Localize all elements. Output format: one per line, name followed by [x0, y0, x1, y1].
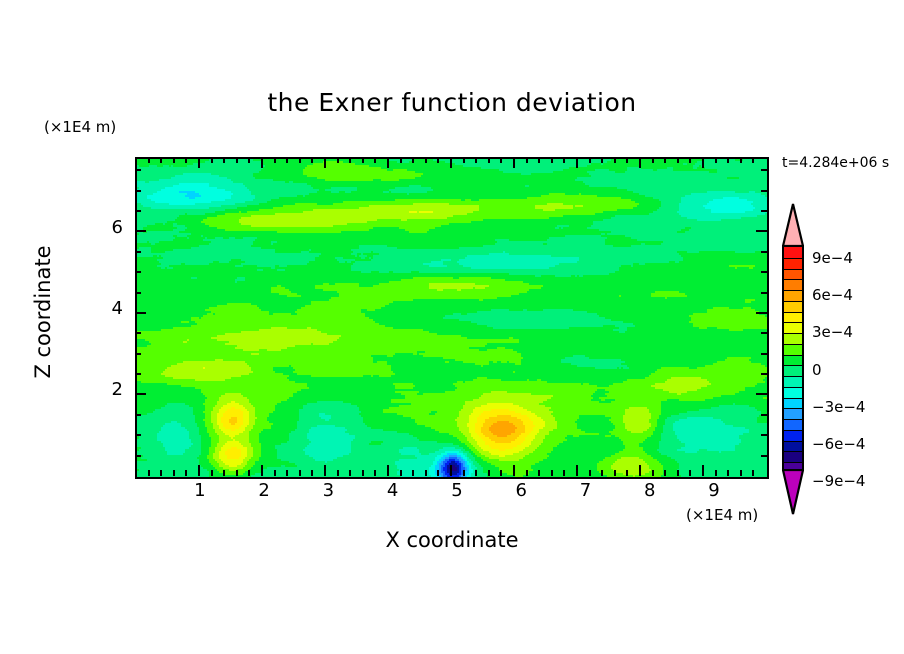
- y-axis-unit-label: (×1E4 m): [44, 118, 116, 136]
- x-minor-tick: [223, 470, 225, 476]
- colorbar-segment: [784, 430, 802, 441]
- x-major-tick: [324, 465, 326, 476]
- x-major-tick-top: [576, 157, 578, 168]
- figure-root: the Exner function deviation (×1E4 m) t=…: [0, 0, 904, 654]
- x-major-tick: [513, 465, 515, 476]
- colorbar-segment: [784, 344, 802, 355]
- x-major-tick: [639, 465, 641, 476]
- x-minor-tick: [526, 470, 528, 476]
- x-major-tick-top: [198, 157, 200, 168]
- x-minor-tick: [740, 470, 742, 476]
- y-tick-label: 4: [95, 298, 123, 319]
- x-major-tick-top: [387, 157, 389, 168]
- contour-plot-area: [135, 157, 769, 479]
- colorbar-under-arrow-outline: [782, 469, 804, 515]
- colorbar-segment-divider: [784, 279, 802, 280]
- colorbar-segment: [784, 301, 802, 312]
- x-minor-tick: [160, 470, 162, 476]
- x-tick-label: 4: [378, 480, 408, 501]
- colorbar-segment-divider: [784, 451, 802, 452]
- x-minor-tick-top: [475, 157, 477, 163]
- x-minor-tick: [337, 470, 339, 476]
- x-minor-tick: [626, 470, 628, 476]
- colorbar-segment-divider: [784, 430, 802, 431]
- y-minor-tick: [135, 251, 141, 253]
- x-minor-tick-top: [362, 157, 364, 163]
- colorbar-segment-divider: [784, 365, 802, 366]
- x-minor-tick-top: [299, 157, 301, 163]
- colorbar-segment: [784, 247, 802, 258]
- x-minor-tick: [148, 470, 150, 476]
- x-minor-tick-top: [652, 157, 654, 163]
- y-minor-tick-right: [761, 271, 767, 273]
- y-minor-tick-right: [761, 414, 767, 416]
- x-minor-tick-top: [148, 157, 150, 163]
- x-minor-tick-top: [740, 157, 742, 163]
- colorbar-segment: [784, 398, 802, 409]
- x-major-tick: [702, 465, 704, 476]
- colorbar-segment: [784, 290, 802, 301]
- x-minor-tick: [412, 470, 414, 476]
- colorbar-tick-label: 9e−4: [812, 249, 853, 267]
- colorbar-segment-divider: [784, 462, 802, 463]
- x-minor-tick-top: [160, 157, 162, 163]
- x-minor-tick: [475, 470, 477, 476]
- colorbar-segment-divider: [784, 301, 802, 302]
- x-minor-tick: [652, 470, 654, 476]
- y-tick-label: 6: [95, 217, 123, 238]
- x-minor-tick-top: [727, 157, 729, 163]
- x-minor-tick: [589, 470, 591, 476]
- x-minor-tick-top: [488, 157, 490, 163]
- y-minor-tick-right: [761, 251, 767, 253]
- colorbar-segment: [784, 376, 802, 387]
- x-minor-tick: [286, 470, 288, 476]
- y-minor-tick-right: [761, 169, 767, 171]
- x-tick-label: 7: [570, 480, 600, 501]
- colorbar-tick-label: −3e−4: [812, 398, 865, 416]
- x-minor-tick-top: [400, 157, 402, 163]
- y-minor-tick: [135, 292, 141, 294]
- x-minor-tick-top: [626, 157, 628, 163]
- x-minor-tick-top: [185, 157, 187, 163]
- colorbar-tick-label: 0: [812, 361, 822, 379]
- y-minor-tick: [135, 373, 141, 375]
- y-axis-title: Z coordinate: [31, 207, 55, 417]
- x-minor-tick: [173, 470, 175, 476]
- y-major-tick: [135, 230, 146, 232]
- x-minor-tick-top: [349, 157, 351, 163]
- y-minor-tick-right: [761, 455, 767, 457]
- x-axis-title: X coordinate: [0, 528, 904, 552]
- x-minor-tick-top: [563, 157, 565, 163]
- x-minor-tick: [362, 470, 364, 476]
- colorbar-segment: [784, 387, 802, 398]
- x-minor-tick: [727, 470, 729, 476]
- colorbar-segment: [784, 408, 802, 419]
- x-minor-tick-top: [437, 157, 439, 163]
- x-minor-tick: [601, 470, 603, 476]
- x-minor-tick-top: [425, 157, 427, 163]
- colorbar-segment: [784, 365, 802, 376]
- y-minor-tick: [135, 271, 141, 273]
- contour-field: [137, 159, 767, 477]
- x-minor-tick-top: [601, 157, 603, 163]
- x-minor-tick: [500, 470, 502, 476]
- x-tick-label: 3: [313, 480, 343, 501]
- timestamp-annotation: t=4.284e+06 s: [782, 155, 889, 171]
- x-minor-tick: [425, 470, 427, 476]
- x-minor-tick-top: [551, 157, 553, 163]
- x-minor-tick: [664, 470, 666, 476]
- colorbar-segment-divider: [784, 269, 802, 270]
- x-minor-tick-top: [664, 157, 666, 163]
- x-tick-label: 1: [185, 480, 215, 501]
- x-minor-tick-top: [412, 157, 414, 163]
- colorbar-segment: [784, 322, 802, 333]
- y-minor-tick-right: [761, 210, 767, 212]
- x-minor-tick: [374, 470, 376, 476]
- colorbar-over-arrow-outline: [782, 203, 804, 247]
- colorbar-gradient: [782, 245, 804, 471]
- colorbar-segment-divider: [784, 258, 802, 259]
- x-tick-label: 6: [506, 480, 536, 501]
- x-minor-tick: [752, 470, 754, 476]
- x-minor-tick-top: [677, 157, 679, 163]
- y-minor-tick-right: [761, 332, 767, 334]
- x-major-tick-top: [639, 157, 641, 168]
- x-major-tick: [261, 465, 263, 476]
- x-minor-tick-top: [173, 157, 175, 163]
- colorbar-segment-divider: [784, 441, 802, 442]
- colorbar-segment-divider: [784, 312, 802, 313]
- x-minor-tick: [299, 470, 301, 476]
- x-tick-label: 9: [699, 480, 729, 501]
- x-major-tick-top: [261, 157, 263, 168]
- y-minor-tick-right: [761, 373, 767, 375]
- colorbar-segment: [784, 333, 802, 344]
- y-minor-tick: [135, 353, 141, 355]
- colorbar-segment-divider: [784, 387, 802, 388]
- contour-canvas: [137, 159, 767, 477]
- colorbar-tick-label: −9e−4: [812, 472, 865, 490]
- x-minor-tick: [551, 470, 553, 476]
- page-title: the Exner function deviation: [0, 88, 904, 117]
- x-minor-tick-top: [589, 157, 591, 163]
- x-minor-tick: [715, 470, 717, 476]
- x-major-tick: [198, 465, 200, 476]
- x-minor-tick: [563, 470, 565, 476]
- y-major-tick-right: [756, 312, 767, 314]
- x-minor-tick-top: [752, 157, 754, 163]
- y-minor-tick: [135, 434, 141, 436]
- colorbar-segment: [784, 441, 802, 452]
- colorbar-segment: [784, 279, 802, 290]
- colorbar-segment-divider: [784, 398, 802, 399]
- x-major-tick-top: [513, 157, 515, 168]
- x-minor-tick: [236, 470, 238, 476]
- x-minor-tick: [211, 470, 213, 476]
- x-minor-tick: [488, 470, 490, 476]
- colorbar-segment: [784, 355, 802, 366]
- colorbar-tick-label: 3e−4: [812, 323, 853, 341]
- x-minor-tick: [689, 470, 691, 476]
- colorbar-segment: [784, 258, 802, 269]
- x-minor-tick-top: [715, 157, 717, 163]
- x-minor-tick: [437, 470, 439, 476]
- x-minor-tick: [614, 470, 616, 476]
- x-minor-tick: [248, 470, 250, 476]
- y-major-tick: [135, 312, 146, 314]
- colorbar-segment: [784, 419, 802, 430]
- x-minor-tick-top: [526, 157, 528, 163]
- y-tick-label: 2: [95, 379, 123, 400]
- colorbar-segment: [784, 269, 802, 280]
- x-minor-tick: [677, 470, 679, 476]
- y-major-tick-right: [756, 393, 767, 395]
- y-minor-tick: [135, 455, 141, 457]
- x-minor-tick-top: [223, 157, 225, 163]
- colorbar-segment: [784, 312, 802, 323]
- colorbar-segment-divider: [784, 376, 802, 377]
- x-minor-tick: [463, 470, 465, 476]
- x-minor-tick: [311, 470, 313, 476]
- x-major-tick-top: [324, 157, 326, 168]
- x-minor-tick-top: [248, 157, 250, 163]
- colorbar-segment-divider: [784, 322, 802, 323]
- x-tick-label: 2: [249, 480, 279, 501]
- x-minor-tick-top: [311, 157, 313, 163]
- y-minor-tick: [135, 190, 141, 192]
- y-minor-tick: [135, 210, 141, 212]
- x-tick-label: 5: [442, 480, 472, 501]
- x-tick-label: 8: [635, 480, 665, 501]
- x-minor-tick-top: [236, 157, 238, 163]
- x-minor-tick: [274, 470, 276, 476]
- colorbar-segment-divider: [784, 419, 802, 420]
- y-minor-tick: [135, 169, 141, 171]
- y-major-tick: [135, 393, 146, 395]
- colorbar-segment-divider: [784, 355, 802, 356]
- x-major-tick: [387, 465, 389, 476]
- x-major-tick: [576, 465, 578, 476]
- y-major-tick-right: [756, 230, 767, 232]
- x-minor-tick-top: [689, 157, 691, 163]
- colorbar-tick-label: 6e−4: [812, 286, 853, 304]
- x-major-tick-top: [450, 157, 452, 168]
- x-minor-tick: [349, 470, 351, 476]
- x-minor-tick: [538, 470, 540, 476]
- colorbar-segment-divider: [784, 344, 802, 345]
- x-minor-tick: [185, 470, 187, 476]
- x-minor-tick-top: [274, 157, 276, 163]
- y-minor-tick: [135, 414, 141, 416]
- y-minor-tick: [135, 332, 141, 334]
- x-minor-tick-top: [286, 157, 288, 163]
- y-minor-tick-right: [761, 434, 767, 436]
- x-axis-unit-label: (×1E4 m): [686, 506, 758, 524]
- x-minor-tick-top: [500, 157, 502, 163]
- x-minor-tick-top: [374, 157, 376, 163]
- x-major-tick-top: [702, 157, 704, 168]
- colorbar: [780, 203, 806, 513]
- colorbar-segment-divider: [784, 408, 802, 409]
- x-minor-tick-top: [538, 157, 540, 163]
- x-minor-tick: [400, 470, 402, 476]
- x-major-tick: [450, 465, 452, 476]
- colorbar-segment-divider: [784, 290, 802, 291]
- x-minor-tick-top: [337, 157, 339, 163]
- x-minor-tick-top: [614, 157, 616, 163]
- colorbar-segment-divider: [784, 333, 802, 334]
- x-minor-tick-top: [463, 157, 465, 163]
- y-minor-tick-right: [761, 353, 767, 355]
- y-minor-tick-right: [761, 292, 767, 294]
- colorbar-segment: [784, 451, 802, 462]
- y-minor-tick-right: [761, 190, 767, 192]
- x-minor-tick-top: [211, 157, 213, 163]
- colorbar-tick-label: −6e−4: [812, 435, 865, 453]
